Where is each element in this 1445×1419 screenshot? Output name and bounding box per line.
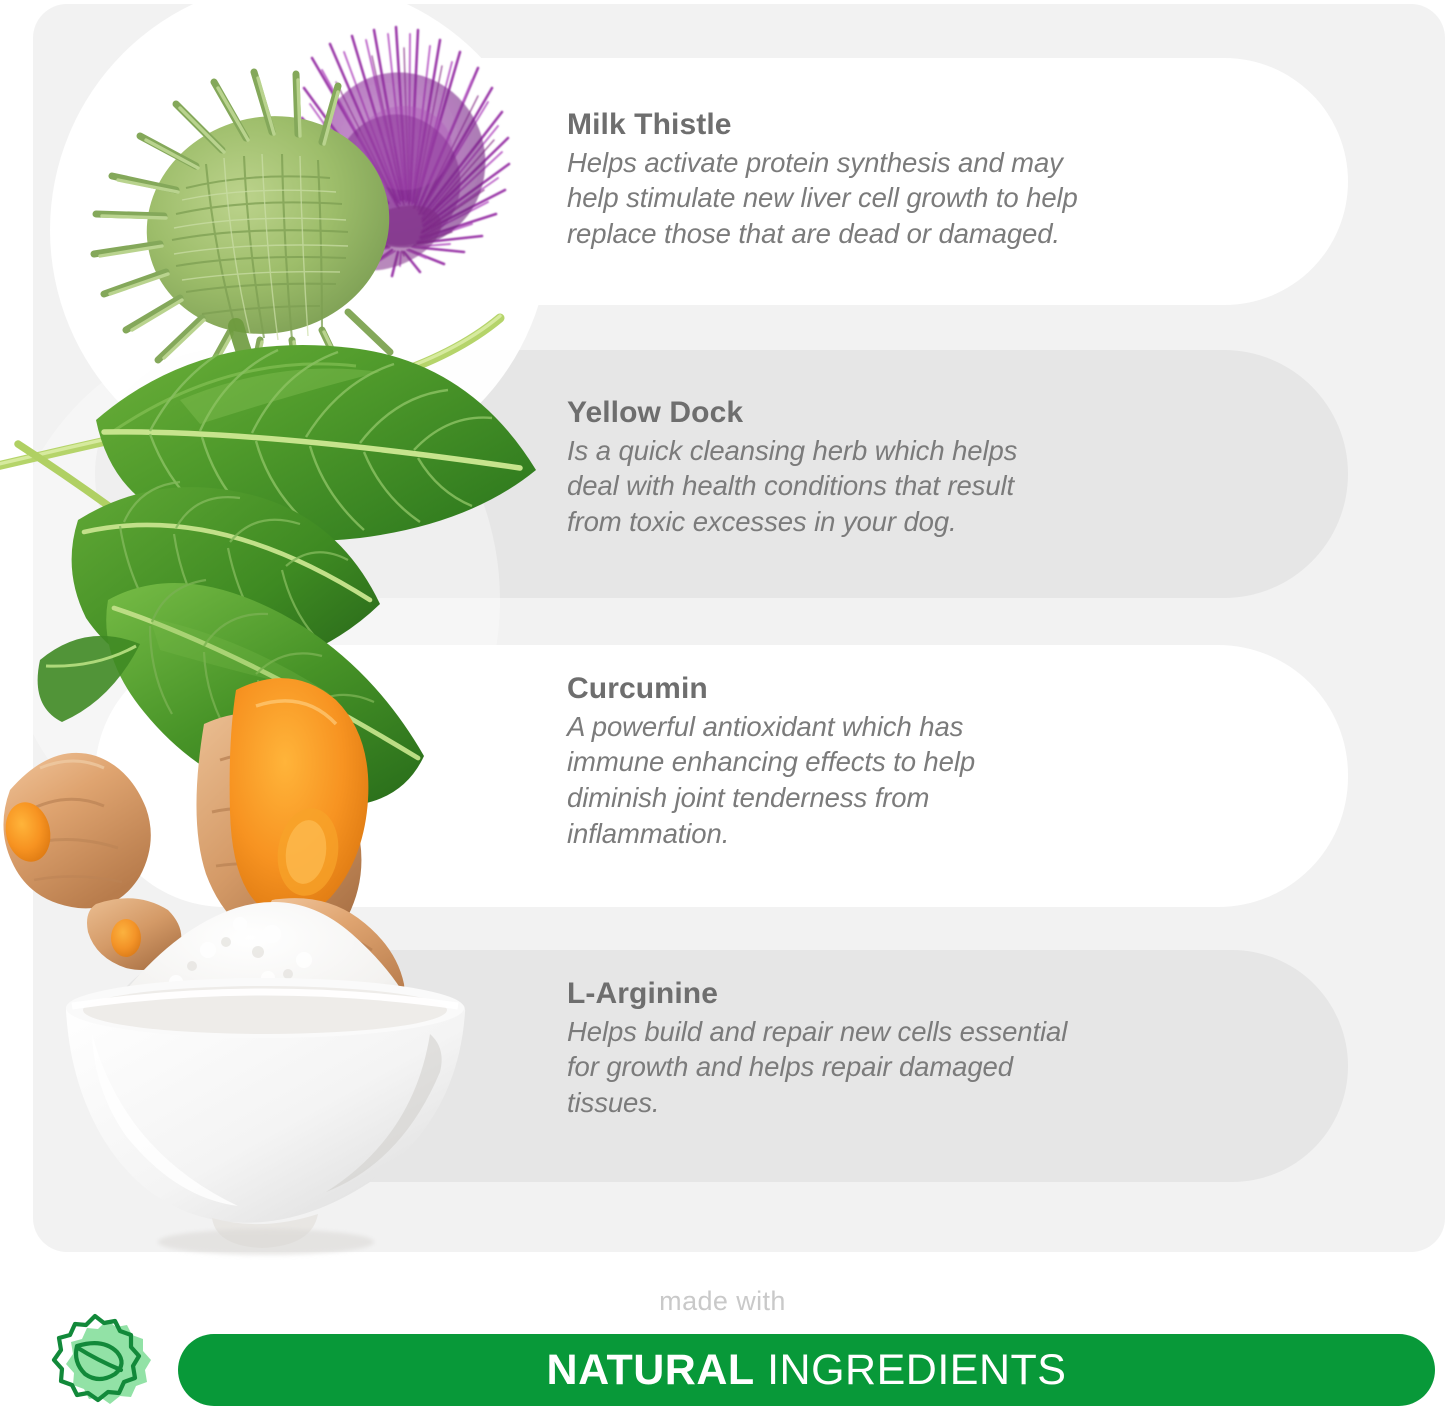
ingredient-description: Is a quick cleansing herb which helps de… (567, 433, 1307, 540)
banner-light-word: INGREDIENTS (767, 1346, 1066, 1394)
desc-line: for growth and helps repair damaged (567, 1051, 1013, 1082)
made-with-label: made with (0, 1286, 1445, 1317)
banner-strong-word: NATURAL (547, 1346, 755, 1394)
desc-line: inflammation. (567, 818, 729, 849)
desc-line: replace those that are dead or damaged. (567, 218, 1060, 249)
ingredient-text-yellow-dock: Yellow Dock Is a quick cleansing herb wh… (567, 396, 1307, 540)
desc-line: tissues. (567, 1087, 659, 1118)
desc-line: Is a quick cleansing herb which helps (567, 435, 1017, 466)
ingredient-title: Curcumin (567, 672, 1307, 706)
ingredient-description: Helps activate protein synthesis and may… (567, 145, 1307, 252)
ingredient-description: A powerful antioxidant which has immune … (567, 709, 1307, 852)
ingredient-description: Helps build and repair new cells essenti… (567, 1014, 1307, 1121)
ingredient-text-milk-thistle: Milk Thistle Helps activate protein synt… (567, 108, 1307, 252)
desc-line: diminish joint tenderness from (567, 782, 929, 813)
desc-line: A powerful antioxidant which has (567, 711, 963, 742)
desc-line: Helps activate protein synthesis and may (567, 147, 1063, 178)
ingredient-text-l-arginine: L-Arginine Helps build and repair new ce… (567, 977, 1307, 1121)
leaf-badge-icon (45, 1312, 160, 1417)
desc-line: help stimulate new liver cell growth to … (567, 182, 1078, 213)
infographic-page: Milk Thistle Helps activate protein synt… (0, 0, 1445, 1419)
desc-line: Helps build and repair new cells essenti… (567, 1016, 1067, 1047)
natural-ingredients-banner: NATURAL INGREDIENTS (178, 1334, 1435, 1406)
desc-line: from toxic excesses in your dog. (567, 506, 957, 537)
ingredient-title: Yellow Dock (567, 396, 1307, 430)
banner-text: NATURAL INGREDIENTS (547, 1346, 1067, 1395)
ingredient-text-curcumin: Curcumin A powerful antioxidant which ha… (567, 672, 1307, 852)
desc-line: deal with health conditions that result (567, 470, 1014, 501)
ingredient-title: Milk Thistle (567, 108, 1307, 142)
ingredient-title: L-Arginine (567, 977, 1307, 1011)
desc-line: immune enhancing effects to help (567, 746, 975, 777)
